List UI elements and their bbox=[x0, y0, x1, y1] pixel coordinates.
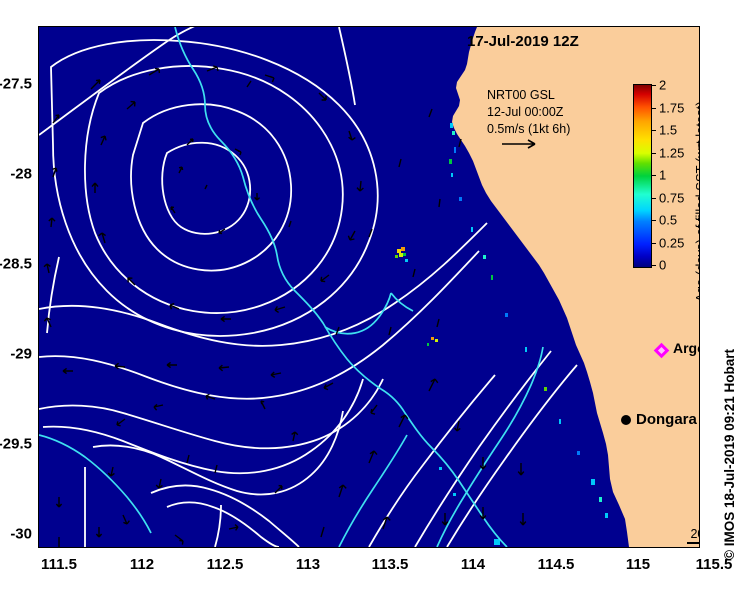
xtick-label-7: 115 bbox=[626, 556, 650, 573]
ytick-right-3 bbox=[699, 355, 700, 356]
ytick-label-2: -28.5 bbox=[0, 256, 32, 273]
colorbar-tick-6 bbox=[651, 220, 656, 221]
xtick-top-5 bbox=[557, 26, 558, 27]
colorbar-tick-0 bbox=[651, 85, 656, 86]
ytick-label-5: -30 bbox=[10, 526, 32, 543]
xtick-label-3: 113 bbox=[296, 556, 320, 573]
xtick-top-4 bbox=[474, 26, 475, 27]
xtick-top-6 bbox=[639, 26, 640, 27]
ytick-right-0 bbox=[699, 85, 700, 86]
map-graphics bbox=[39, 27, 699, 547]
colorbar-label-1: 1.75 bbox=[659, 100, 684, 115]
xtick-bottom-4 bbox=[391, 547, 392, 548]
velocity-vectors bbox=[44, 66, 526, 547]
colorbar-label-4: 1 bbox=[659, 168, 666, 183]
colorbar-group: 2 1.75 1.5 1.25 1 0.75 0.5 0.25 0 bbox=[633, 84, 652, 268]
ytick-left-3 bbox=[38, 355, 39, 356]
ytick-right-4 bbox=[699, 445, 700, 446]
xtick-bottom-3 bbox=[309, 547, 310, 548]
colorbar-label-6: 0.5 bbox=[659, 213, 677, 228]
ytick-right-5 bbox=[699, 535, 700, 536]
xtick-label-4: 113.5 bbox=[372, 556, 409, 573]
argo-label: Argo bbox=[673, 340, 700, 356]
colorbar-tick-3 bbox=[651, 153, 656, 154]
depth-contour-key: 200m 1000m bbox=[687, 525, 700, 548]
xtick-label-5: 114 bbox=[461, 556, 485, 573]
xtick-top-3 bbox=[391, 26, 392, 27]
depth-key-1000m: 1000m bbox=[687, 544, 700, 548]
colorbar-tick-1 bbox=[651, 108, 656, 109]
ytick-label-3: -29 bbox=[10, 346, 32, 363]
map-plot-area: 17-Jul-2019 12Z NRT00 GSL 12-Jul 00:00Z … bbox=[38, 26, 700, 548]
colorbar-tick-7 bbox=[651, 243, 656, 244]
ytick-right-1 bbox=[699, 175, 700, 176]
ytick-left-0 bbox=[38, 85, 39, 86]
ytick-label-1: -28 bbox=[10, 166, 32, 183]
vector-scale-arrow-icon bbox=[501, 138, 543, 150]
xtick-label-6: 114.5 bbox=[538, 556, 575, 573]
xtick-top-2 bbox=[309, 26, 310, 27]
colorbar-label-0: 2 bbox=[659, 78, 666, 93]
ytick-label-4: -29.5 bbox=[0, 436, 32, 453]
depth-key-200m: 200m bbox=[687, 525, 700, 543]
xtick-top-0 bbox=[143, 26, 144, 27]
ytick-left-4 bbox=[38, 445, 39, 446]
colorbar-gradient: 2 1.75 1.5 1.25 1 0.75 0.5 0.25 0 bbox=[633, 84, 652, 268]
vector-legend-line1: NRT00 GSL bbox=[487, 87, 570, 104]
xtick-bottom-7 bbox=[639, 547, 640, 548]
vector-scale-legend: NRT00 GSL 12-Jul 00:00Z 0.5m/s (1kt 6h) bbox=[487, 87, 570, 138]
xtick-top-1 bbox=[226, 26, 227, 27]
colorbar-label-3: 1.25 bbox=[659, 145, 684, 160]
xtick-bottom-5 bbox=[474, 547, 475, 548]
dongara-label: Dongara bbox=[636, 411, 697, 428]
map-date-title: 17-Jul-2019 12Z bbox=[467, 33, 579, 50]
xtick-bottom-1 bbox=[143, 547, 144, 548]
colorbar-tick-2 bbox=[651, 130, 656, 131]
xtick-label-2: 112.5 bbox=[207, 556, 244, 573]
ytick-label-0: -27.5 bbox=[0, 76, 32, 93]
xtick-bottom-2 bbox=[226, 547, 227, 548]
colorbar-label-2: 1.5 bbox=[659, 123, 677, 138]
ytick-left-2 bbox=[38, 265, 39, 266]
vector-legend-line3: 0.5m/s (1kt 6h) bbox=[487, 121, 570, 138]
xtick-label-0: 111.5 bbox=[41, 556, 77, 573]
colorbar-tick-5 bbox=[651, 198, 656, 199]
figure-root: 17-Jul-2019 12Z NRT00 GSL 12-Jul 00:00Z … bbox=[0, 0, 739, 592]
xtick-bottom-0 bbox=[60, 547, 61, 548]
copyright-credit: © IMOS 18-Jul-2019 09:21 Hobart bbox=[722, 349, 737, 560]
xtick-label-1: 112 bbox=[130, 556, 154, 573]
dongara-marker-icon bbox=[621, 415, 631, 425]
colorbar-label-7: 0.25 bbox=[659, 235, 684, 250]
ytick-left-1 bbox=[38, 175, 39, 176]
colorbar-tick-8 bbox=[651, 265, 656, 266]
colorbar-tick-4 bbox=[651, 175, 656, 176]
ytick-left-5 bbox=[38, 535, 39, 536]
colorbar-title: Age (days) of filled SST (wrt latest) bbox=[693, 282, 700, 302]
ytick-right-2 bbox=[699, 265, 700, 266]
vector-legend-line2: 12-Jul 00:00Z bbox=[487, 104, 570, 121]
colorbar-label-8: 0 bbox=[659, 258, 666, 273]
xtick-bottom-6 bbox=[557, 547, 558, 548]
colorbar-label-5: 0.75 bbox=[659, 190, 684, 205]
